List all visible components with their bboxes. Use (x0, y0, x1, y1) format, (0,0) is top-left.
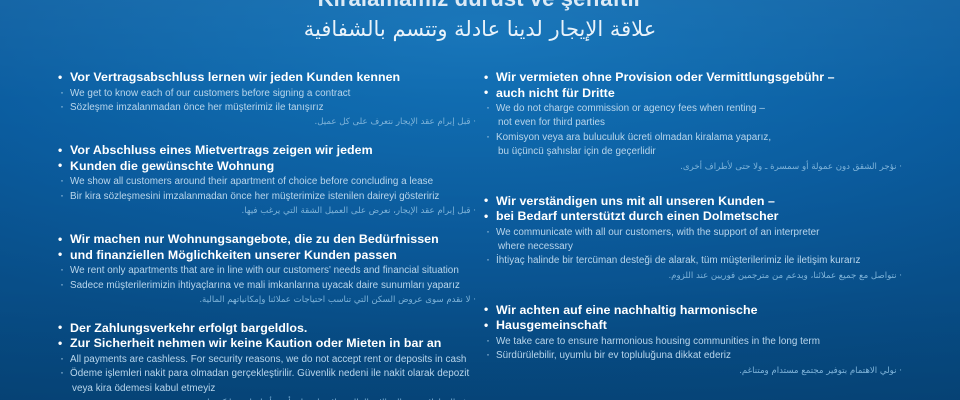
bullet-sub-ar: نتواصل مع جميع عملائنا، وبدعم من مترجمين… (484, 270, 904, 283)
bullet-heading-line: Hausgemeinschaft (484, 318, 904, 334)
bullet-heading-line: Wir achten auf eine nachhaltig harmonisc… (484, 303, 904, 319)
bullet-sub-en: We show all customers around their apart… (58, 175, 478, 188)
bullet-block: Wir achten auf eine nachhaltig harmonisc… (484, 303, 904, 378)
bullet-heading-line: Vor Abschluss eines Mietvertrags zeigen … (58, 143, 478, 159)
slide-canvas: Kiralamamız dürüst ve şeffaftır علاقة ال… (0, 0, 960, 400)
bullet-sub-ar: قبل إبرام عقد الإيجار نتعرف على كل عميل. (58, 116, 478, 129)
bullet-heading-line: Der Zahlungsverkehr erfolgt bargeldlos. (58, 321, 478, 337)
bullet-sub-ar: نولي الاهتمام بتوفير مجتمع مستدام ومتناغ… (484, 365, 904, 378)
bullet-sub-tr: Sürdürülebilir, uyumlu bir ev topluluğun… (484, 349, 904, 362)
bullet-sub-tr-cont: bu üçüncü şahıslar için de geçerlidir (484, 145, 904, 158)
bullet-sub-tr: Ödeme işlemleri nakit para olmadan gerçe… (58, 367, 478, 380)
bullet-block: Der Zahlungsverkehr erfolgt bargeldlos. … (58, 321, 478, 400)
bullet-sub-tr: İhtiyaç halinde bir tercüman desteği de … (484, 254, 904, 267)
bullet-sub-tr: Bir kira sözleşmesini imzalanmadan önce … (58, 190, 478, 203)
bullet-heading-line: Wir verständigen uns mit all unseren Kun… (484, 194, 904, 210)
bullet-heading-line: Kunden die gewünschte Wohnung (58, 159, 478, 175)
bullet-sub-en-cont: where necessary (484, 240, 904, 253)
bullet-sub-tr-cont: veya kira ödemesi kabul etmeyiz (58, 382, 478, 395)
bullet-sub-en: We do not charge commission or agency fe… (484, 102, 904, 115)
bullet-heading-line: bei Bedarf unterstützt durch einen Dolme… (484, 209, 904, 225)
bullet-heading-line: auch nicht für Dritte (484, 86, 904, 102)
title-zone: Kiralamamız dürüst ve şeffaftır علاقة ال… (0, 0, 960, 44)
bullet-block: Wir verständigen uns mit all unseren Kun… (484, 194, 904, 283)
bullet-sub-en: We take care to ensure harmonious housin… (484, 335, 904, 348)
bullet-sub-tr: Sadece müşterilerimizin ihtiyaçlarına ve… (58, 279, 478, 292)
bullet-sub-tr: Sözleşme imzalanmadan önce her müşterimi… (58, 101, 478, 114)
bullet-sub-en: All payments are cashless. For security … (58, 353, 478, 366)
bullet-sub-en: We get to know each of our customers bef… (58, 87, 478, 100)
bullet-sub-en: We communicate with all our customers, w… (484, 226, 904, 239)
bullet-sub-ar: لا نقدم سوى عروض السكن التي تناسب احتياج… (58, 294, 478, 307)
bullet-heading-line: und finanziellen Möglichkeiten unserer K… (58, 248, 478, 264)
left-column: Vor Vertragsabschluss lernen wir jeden K… (58, 70, 478, 400)
right-column: Wir vermieten ohne Provision oder Vermit… (484, 70, 904, 392)
bullet-heading-line: Zur Sicherheit nehmen wir keine Kaution … (58, 336, 478, 352)
bullet-sub-tr: Komisyon veya ara buluculuk ücreti olmad… (484, 131, 904, 144)
slide-title-arabic: علاقة الإيجار لدينا عادلة وتتسم بالشفافي… (0, 14, 960, 44)
bullet-heading-line: Vor Vertragsabschluss lernen wir jeden K… (58, 70, 478, 86)
bullet-block: Wir vermieten ohne Provision oder Vermit… (484, 70, 904, 174)
bullet-block: Wir machen nur Wohnungsangebote, die zu … (58, 232, 478, 307)
bullet-heading-line: Wir vermieten ohne Provision oder Vermit… (484, 70, 904, 86)
bullet-sub-en-cont: not even for third parties (484, 116, 904, 129)
slide-title-turkish: Kiralamamız dürüst ve şeffaftır (0, 0, 960, 12)
bullet-heading-line: Wir machen nur Wohnungsangebote, die zu … (58, 232, 478, 248)
bullet-sub-ar: قبل إبرام عقد الإيجار، نعرض على العميل ا… (58, 205, 478, 218)
bullet-block: Vor Vertragsabschluss lernen wir jeden K… (58, 70, 478, 129)
bullet-sub-ar: نؤجر الشقق دون عمولة أو سمسرة ـ ولا حتى … (484, 161, 904, 174)
bullet-sub-en: We rent only apartments that are in line… (58, 264, 478, 277)
content-columns: Vor Vertragsabschluss lernen wir jeden K… (0, 70, 960, 400)
bullet-block: Vor Abschluss eines Mietvertrags zeigen … (58, 143, 478, 218)
